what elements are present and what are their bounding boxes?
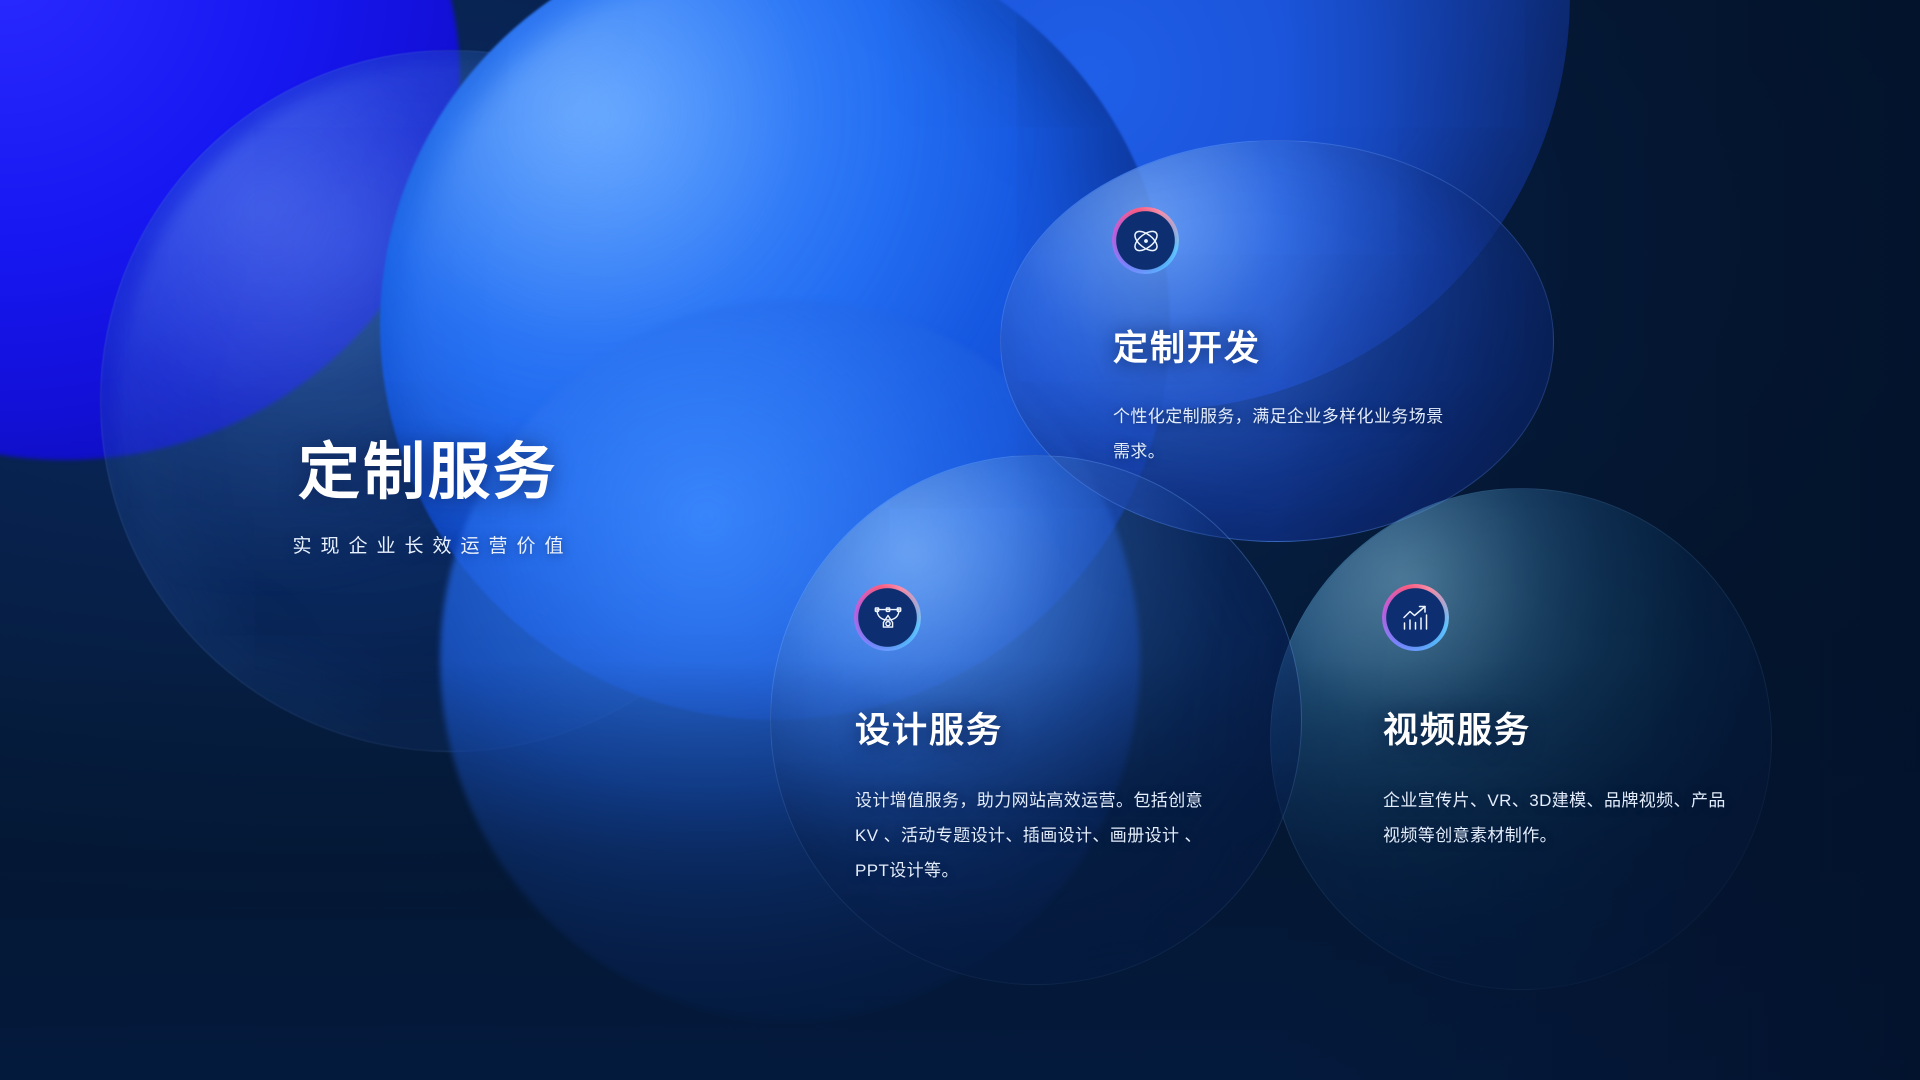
slide-canvas: 定制服务 实现企业长效运营价值 定制开发 个性化定制服务，满足企业多样化业务场景… xyxy=(0,0,1920,1080)
pen-nib-icon xyxy=(855,585,920,650)
background-sphere-navy xyxy=(100,50,802,752)
service-card-description: 企业宣传片、VR、3D建模、品牌视频、产品视频等创意素材制作。 xyxy=(1383,784,1733,854)
page-subtitle: 实现企业长效运营价值 xyxy=(218,531,638,558)
hero-block: 定制服务 实现企业长效运营价值 xyxy=(218,440,638,558)
background-glow-cyan xyxy=(0,0,410,430)
service-card-custom-development[interactable]: 定制开发 个性化定制服务，满足企业多样化业务场景需求。 xyxy=(1113,208,1463,470)
service-card-description: 设计增值服务，助力网站高效运营。包括创意KV 、活动专题设计、插画设计、画册设计… xyxy=(855,784,1215,889)
background-sphere-navy-highlight xyxy=(118,62,790,738)
service-card-video-service[interactable]: 视频服务 企业宣传片、VR、3D建模、品牌视频、产品视频等创意素材制作。 xyxy=(1383,585,1723,854)
service-card-title: 视频服务 xyxy=(1383,702,1723,753)
service-card-design-service[interactable]: 设计服务 设计增值服务，助力网站高效运营。包括创意KV 、活动专题设计、插画设计… xyxy=(855,585,1185,889)
service-card-title: 定制开发 xyxy=(1113,320,1463,371)
background-blob-indigo xyxy=(0,0,460,460)
page-title: 定制服务 xyxy=(218,440,638,505)
service-card-title: 设计服务 xyxy=(855,702,1185,753)
atom-icon xyxy=(1113,208,1178,273)
service-card-description: 个性化定制服务，满足企业多样化业务场景需求。 xyxy=(1113,400,1458,470)
growth-chart-icon xyxy=(1383,585,1448,650)
